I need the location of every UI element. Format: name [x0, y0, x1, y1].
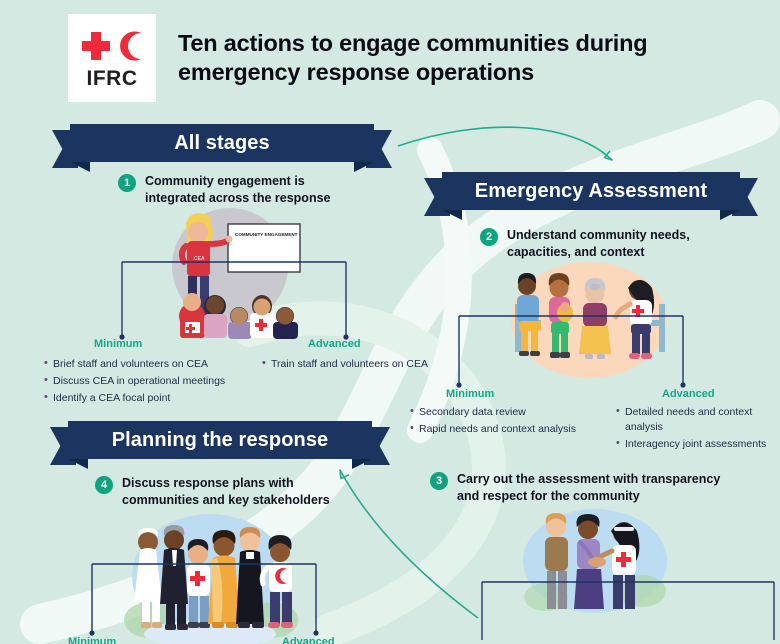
- logo-emblems: [79, 27, 145, 65]
- step-number-badge: 4: [95, 476, 113, 494]
- banner-emergency-assessment: Emergency Assessment: [424, 172, 758, 210]
- banner-planning-the-response: Planning the response: [50, 421, 390, 459]
- svg-text:COMMUNITY ENGAGEMENT: COMMUNITY ENGAGEMENT: [235, 232, 298, 237]
- step-title: Understand community needs, capacities, …: [507, 227, 730, 260]
- list-item: Identify a CEA focal point: [44, 391, 234, 406]
- minimum-list-1: Brief staff and volunteers on CEA Discus…: [44, 357, 234, 408]
- red-crescent-icon: [115, 30, 145, 62]
- tier-label-minimum-4: Minimum: [68, 636, 116, 644]
- banner-all-stages: All stages: [52, 124, 392, 162]
- step-2-heading: 2 Understand community needs, capacities…: [480, 227, 730, 260]
- step-number-badge: 2: [480, 228, 498, 246]
- step-1-heading: 1 Community engagement is integrated acr…: [118, 173, 368, 206]
- banner-label: Emergency Assessment: [442, 172, 740, 210]
- bracket-step-1: [118, 258, 350, 344]
- list-item: Interagency joint assessments: [616, 437, 776, 452]
- advanced-list-1: Train staff and volunteers on CEA: [262, 357, 452, 374]
- tier-label-advanced-4: Advanced: [282, 636, 335, 644]
- red-cross-icon: [79, 30, 113, 62]
- list-item: Train staff and volunteers on CEA: [262, 357, 452, 372]
- list-item: Secondary data review: [410, 405, 590, 420]
- step-3-heading: 3 Carry out the assessment with transpar…: [430, 471, 730, 504]
- tier-label-minimum-2: Minimum: [446, 388, 494, 400]
- bracket-step-2: [455, 312, 687, 392]
- step-title: Carry out the assessment with transparen…: [457, 471, 730, 504]
- list-item: Discuss CEA in operational meetings: [44, 374, 234, 389]
- tier-label-minimum-1: Minimum: [94, 338, 142, 350]
- list-item: Detailed needs and context analysis: [616, 405, 776, 435]
- list-item: Brief staff and volunteers on CEA: [44, 357, 234, 372]
- tier-label-advanced-2: Advanced: [662, 388, 715, 400]
- bracket-step-3: [478, 578, 778, 644]
- step-number-badge: 3: [430, 472, 448, 490]
- step-title: Community engagement is integrated acros…: [145, 173, 368, 206]
- list-item: Rapid needs and context analysis: [410, 422, 590, 437]
- banner-label: Planning the response: [68, 421, 372, 459]
- banner-label: All stages: [70, 124, 374, 162]
- ifrc-logo: IFRC: [68, 14, 156, 102]
- logo-wordmark: IFRC: [87, 68, 138, 89]
- tier-label-advanced-1: Advanced: [308, 338, 361, 350]
- bracket-step-4: [88, 560, 320, 640]
- step-number-badge: 1: [118, 174, 136, 192]
- page-header: IFRC Ten actions to engage communities d…: [68, 14, 758, 102]
- step-4-heading: 4 Discuss response plans with communitie…: [95, 475, 355, 508]
- minimum-list-2: Secondary data review Rapid needs and co…: [410, 405, 590, 439]
- infographic-page: IFRC Ten actions to engage communities d…: [0, 0, 780, 644]
- step-title: Discuss response plans with communities …: [122, 475, 355, 508]
- page-title: Ten actions to engage communities during…: [178, 29, 758, 86]
- advanced-list-2: Detailed needs and context analysis Inte…: [616, 405, 776, 454]
